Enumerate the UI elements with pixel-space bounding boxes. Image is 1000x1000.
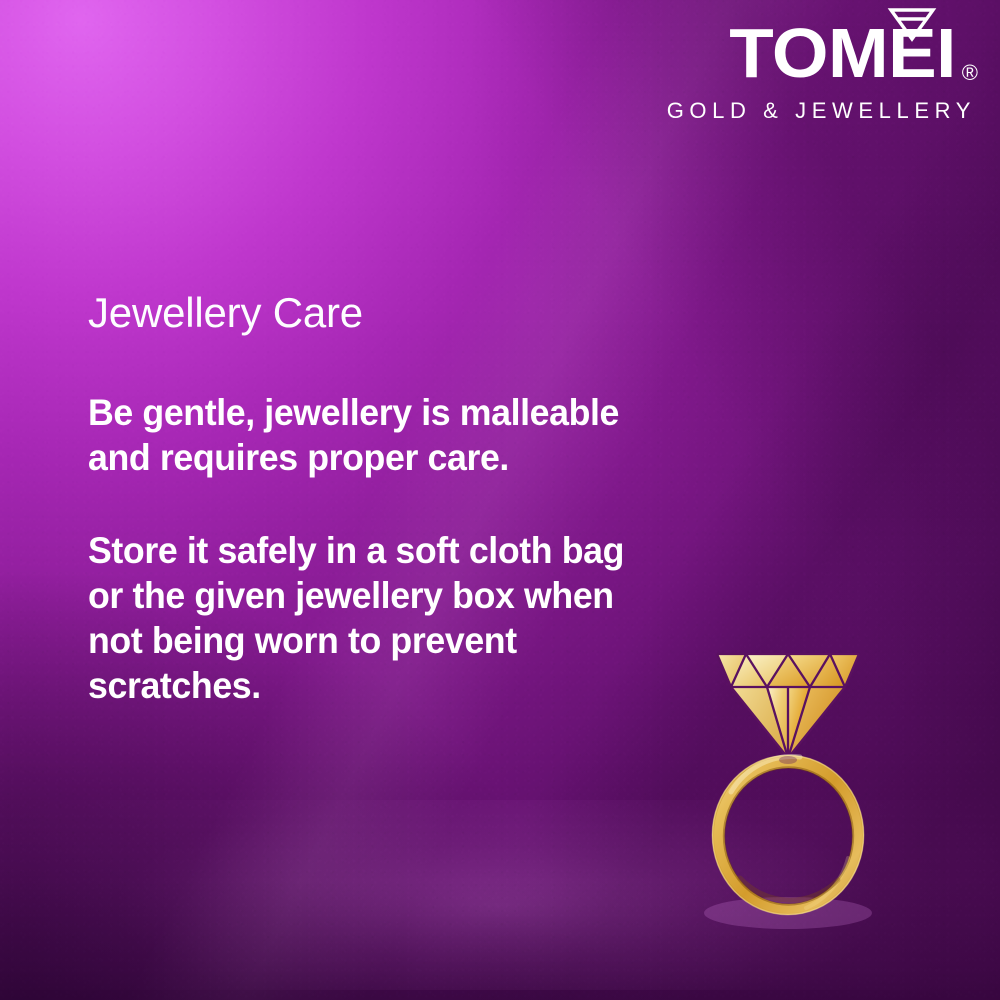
copy-block: Jewellery Care Be gentle, jewellery is m… bbox=[88, 288, 688, 708]
registered-trademark-icon: ® bbox=[962, 62, 978, 84]
care-paragraph-1: Be gentle, jewellery is malleable and re… bbox=[88, 390, 686, 480]
brand-wordmark-row: TOMEI ® bbox=[648, 10, 978, 88]
brand-wordmark-text: TOMEI bbox=[729, 18, 956, 88]
page-title: Jewellery Care bbox=[88, 288, 688, 338]
gold-band bbox=[688, 640, 888, 930]
poster-canvas: TOMEI ® GOLD & JEWELLERY Jewellery Care … bbox=[0, 0, 1000, 1000]
brand-logo: TOMEI ® GOLD & JEWELLERY bbox=[648, 10, 978, 124]
gem-contact-shadow bbox=[779, 756, 797, 764]
diamond-ring-illustration bbox=[688, 640, 888, 930]
brand-tagline: GOLD & JEWELLERY bbox=[648, 98, 978, 124]
care-paragraph-2: Store it safely in a soft cloth bag or t… bbox=[88, 528, 667, 708]
